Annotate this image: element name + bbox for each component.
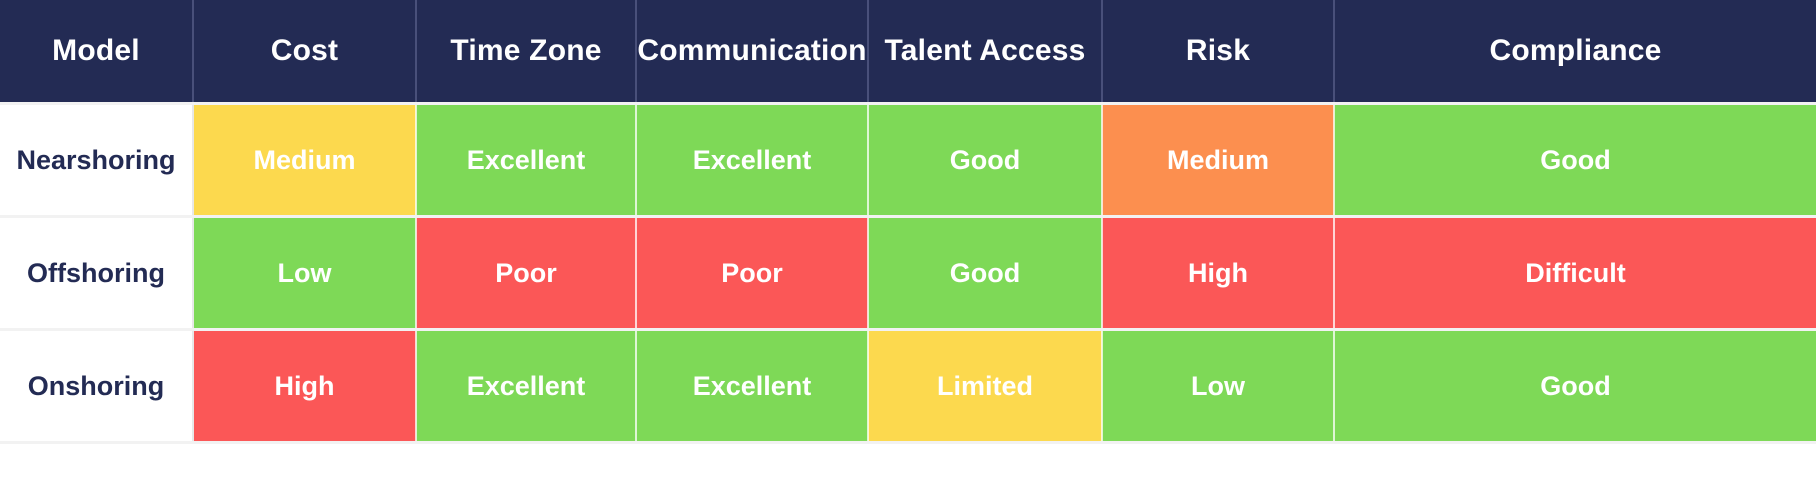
cell-communication: Poor [636,217,868,330]
column-header-time-zone: Time Zone [416,0,636,104]
cell-time_zone: Excellent [416,104,636,217]
cell-risk: Medium [1102,104,1334,217]
row-label-model: Offshoring [0,217,193,330]
column-header-cost: Cost [193,0,416,104]
cell-compliance: Difficult [1334,217,1816,330]
cell-risk: High [1102,217,1334,330]
table-row: OnshoringHighExcellentExcellentLimitedLo… [0,330,1816,443]
table-header: Model Cost Time Zone Communication Talen… [0,0,1816,104]
header-row: Model Cost Time Zone Communication Talen… [0,0,1816,104]
cell-risk: Low [1102,330,1334,443]
cell-cost: Low [193,217,416,330]
column-header-communication: Communication [636,0,868,104]
row-label-model: Nearshoring [0,104,193,217]
cell-cost: High [193,330,416,443]
cell-compliance: Good [1334,330,1816,443]
sourcing-model-comparison-table: Model Cost Time Zone Communication Talen… [0,0,1816,444]
cell-time_zone: Excellent [416,330,636,443]
cell-talent_access: Good [868,217,1102,330]
cell-compliance: Good [1334,104,1816,217]
cell-talent_access: Limited [868,330,1102,443]
column-header-talent-access: Talent Access [868,0,1102,104]
cell-communication: Excellent [636,104,868,217]
row-label-model: Onshoring [0,330,193,443]
cell-time_zone: Poor [416,217,636,330]
cell-communication: Excellent [636,330,868,443]
table-body: NearshoringMediumExcellentExcellentGoodM… [0,104,1816,443]
cell-cost: Medium [193,104,416,217]
column-header-compliance: Compliance [1334,0,1816,104]
table-row: OffshoringLowPoorPoorGoodHighDifficult [0,217,1816,330]
table-row: NearshoringMediumExcellentExcellentGoodM… [0,104,1816,217]
cell-talent_access: Good [868,104,1102,217]
column-header-model: Model [0,0,193,104]
column-header-risk: Risk [1102,0,1334,104]
